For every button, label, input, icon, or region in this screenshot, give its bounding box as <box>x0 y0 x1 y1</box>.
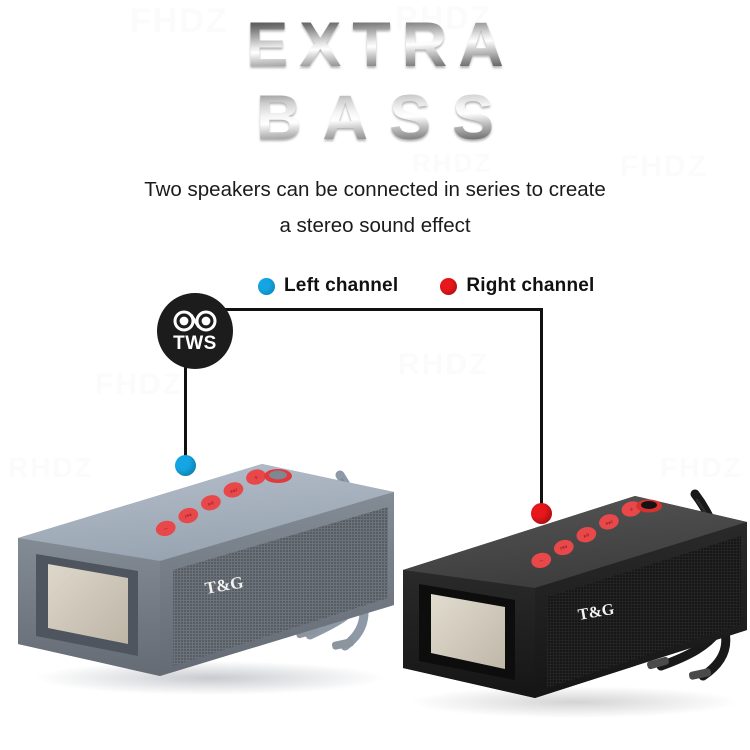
headline-line-2: BASS <box>0 87 750 150</box>
watermark-4: FHDZ <box>95 368 183 402</box>
tws-badge: TWS <box>157 293 233 369</box>
right-speaker-shadow <box>410 686 740 718</box>
channel-legend: Left channel Right channel <box>258 275 595 297</box>
legend-item-right-channel: Right channel <box>440 275 594 297</box>
headline-line-1: EXTRA <box>0 14 750 77</box>
legend-label-left: Left channel <box>284 275 398 297</box>
blue-circle-dot-icon <box>258 278 275 295</box>
watermark-3: RHDZ <box>398 348 489 382</box>
legend-label-right: Right channel <box>466 275 594 297</box>
red-circle-dot-icon <box>440 278 457 295</box>
right-speaker: T&G −⏮ ⏯⏭+ <box>395 470 750 720</box>
left-speaker-shadow <box>35 661 385 695</box>
connector-horizontal-line <box>186 308 542 311</box>
tws-earbuds-infinity-icon <box>172 309 218 333</box>
subtitle-line-1: Two speakers can be connected in series … <box>0 172 750 208</box>
product-banner: FHDZRHDZFHDZRHDZFHDZRHDZFHDZRHDZ EXTRA B… <box>0 0 750 750</box>
subtitle-block: Two speakers can be connected in series … <box>0 172 750 244</box>
left-speaker: T&G −⏮ ⏯⏭+ <box>10 430 400 700</box>
tws-badge-label: TWS <box>173 334 217 353</box>
legend-item-left-channel: Left channel <box>258 275 398 297</box>
headline-block: EXTRA BASS <box>0 14 750 150</box>
subtitle-line-2: a stereo sound effect <box>0 208 750 244</box>
